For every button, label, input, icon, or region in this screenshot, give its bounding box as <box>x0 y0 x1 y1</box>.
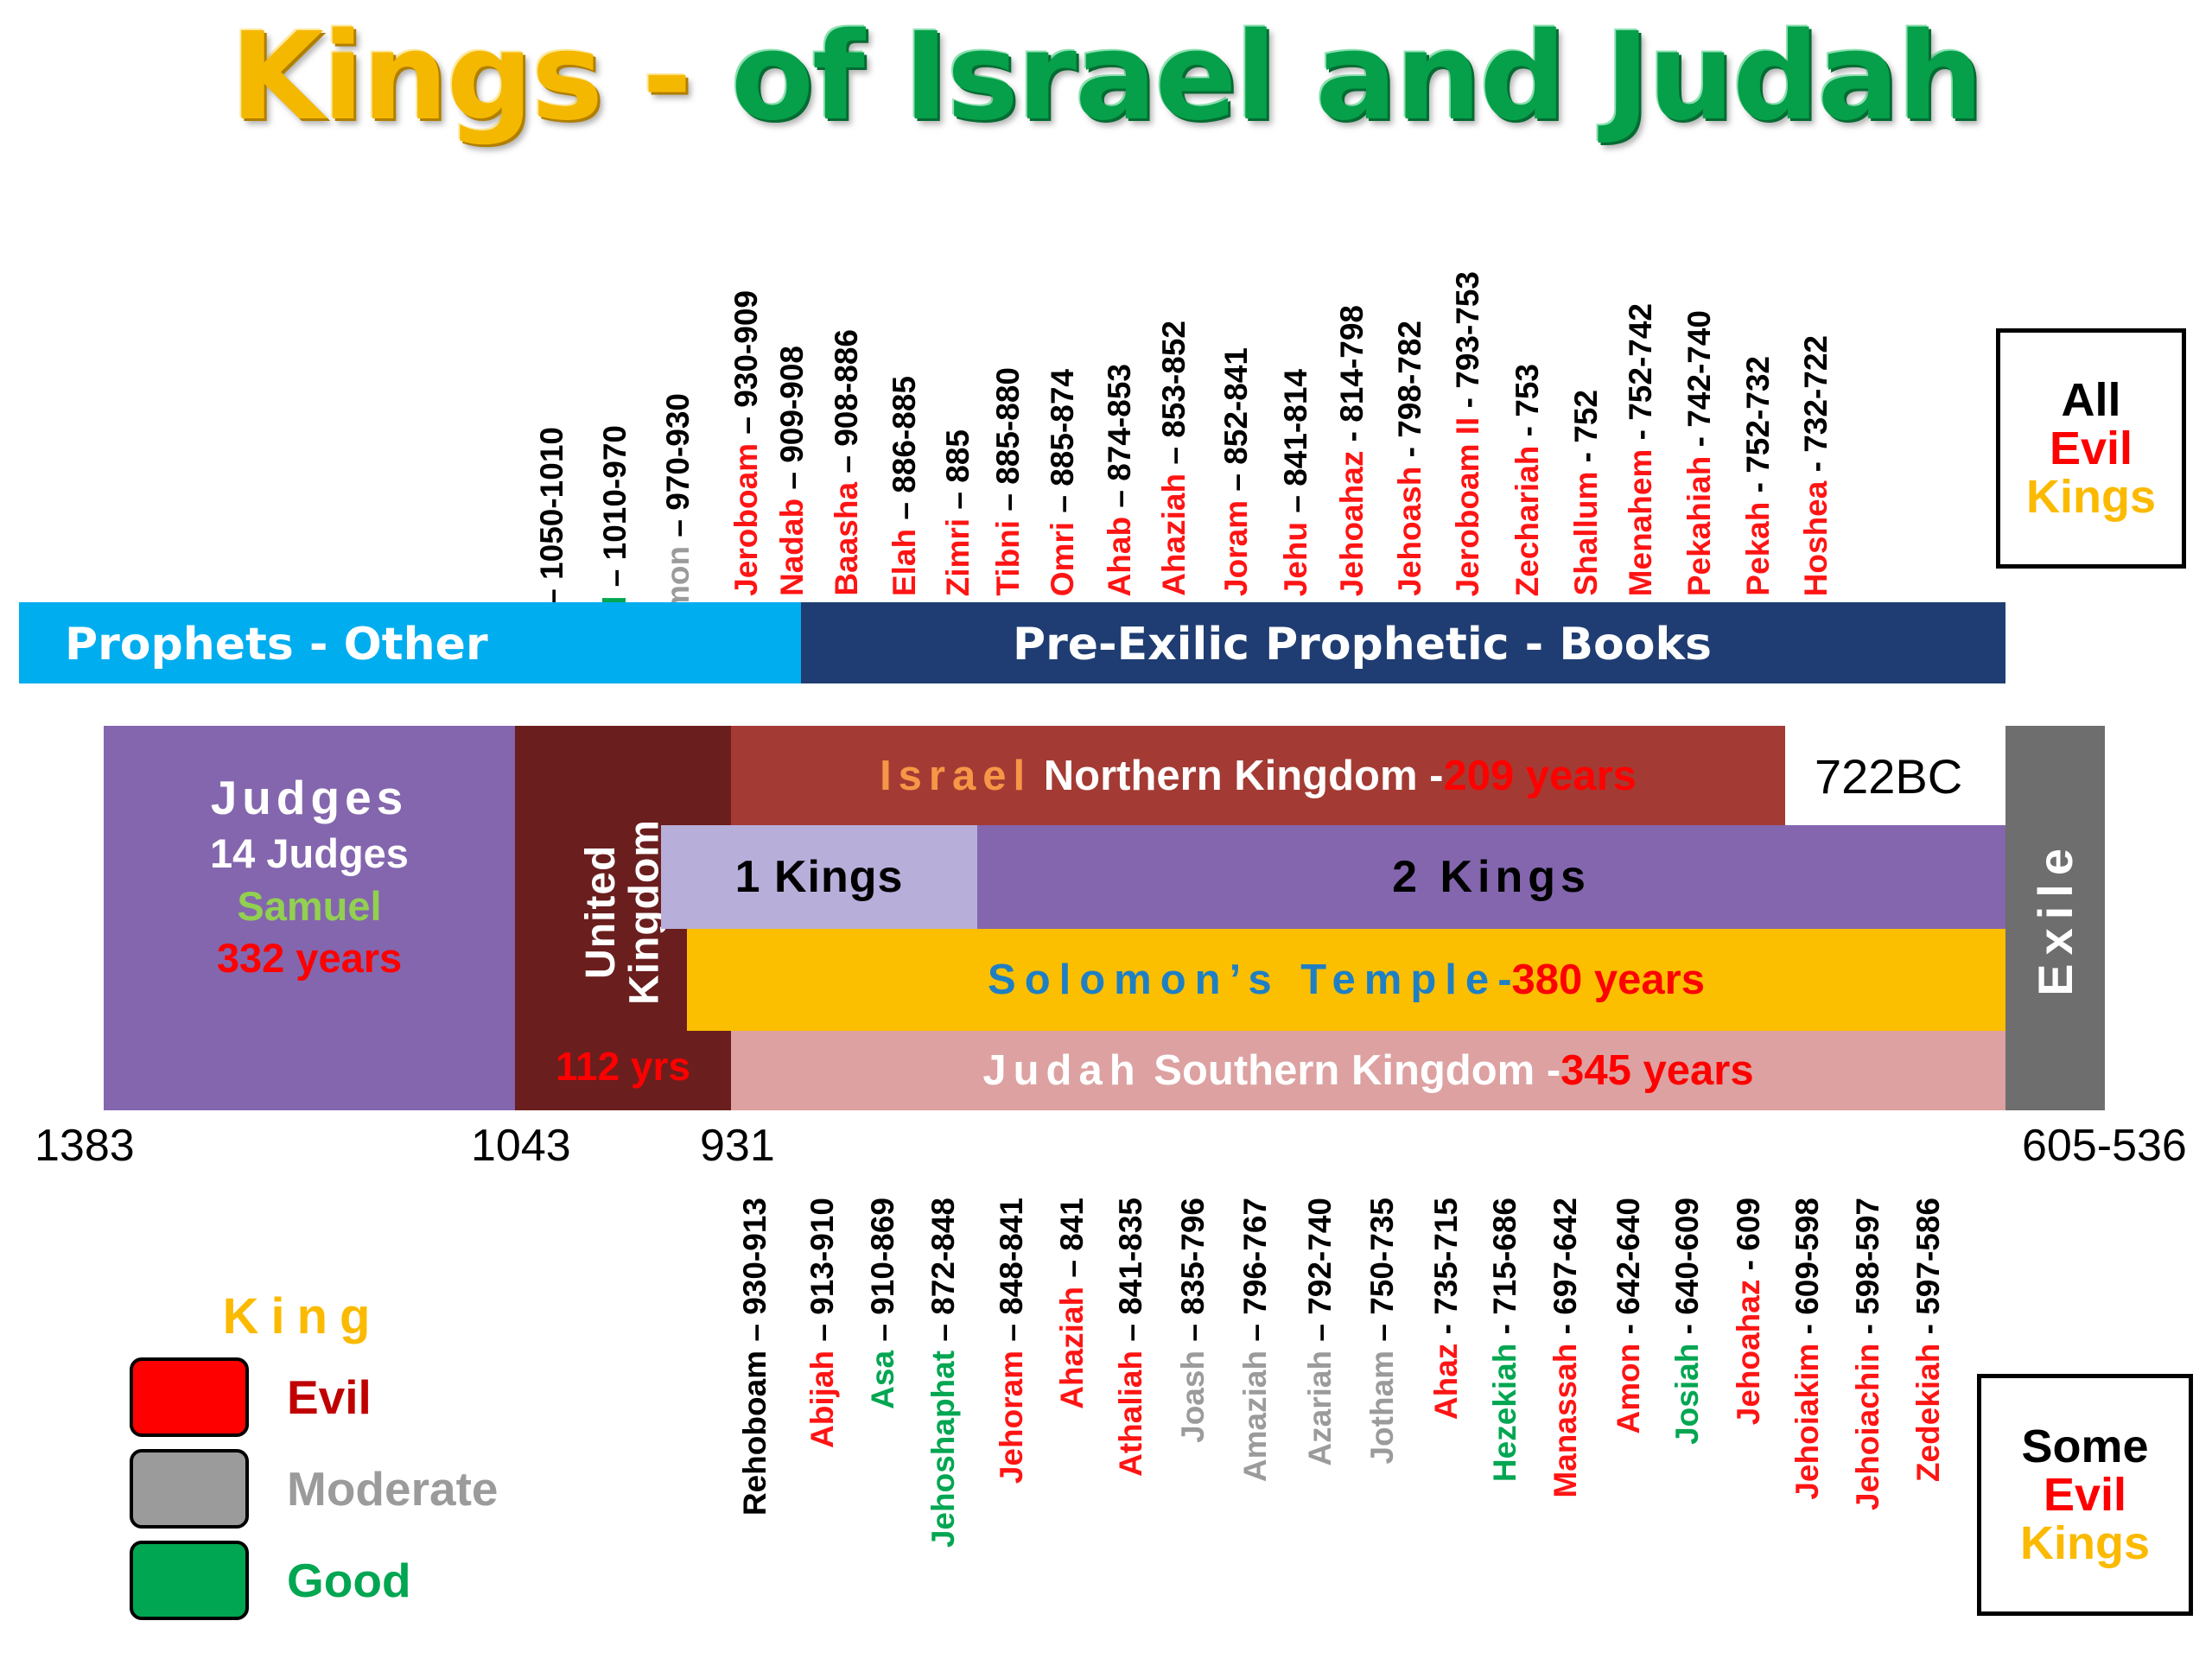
king-label-jeroboam: Jeroboam – 930-909 <box>730 290 762 596</box>
king-name: Tibni <box>990 520 1026 596</box>
king-name: Asa <box>865 1351 900 1409</box>
king-name: Jehoahaz <box>1334 450 1370 596</box>
king-reign-dates: - 752-732 <box>1740 356 1776 502</box>
king-label-baasha: Baasha – 908-886 <box>830 329 862 596</box>
king-label-jotham: Jotham – 750-735 <box>1366 1198 1398 1465</box>
legend-label-moderate: Moderate <box>287 1461 499 1516</box>
solomons-temple-bar: Solomon’s Temple - 380 years <box>687 929 2005 1031</box>
king-label-jehoiachin: Jehoiachin - 598-597 <box>1852 1198 1884 1510</box>
king-reign-dates: – 1010-970 <box>597 425 632 596</box>
king-name: Jeroboam <box>728 443 764 596</box>
king-name: Hezekiah <box>1487 1344 1522 1482</box>
judges-period-block: Judges 14 Judges Samuel 332 years <box>104 726 515 1110</box>
israel-northern-kingdom-bar: Israel Northern Kingdom - 209 years <box>731 726 1785 825</box>
israel-desc: Northern Kingdom - <box>1044 752 1444 800</box>
king-name: Shallum <box>1568 472 1604 596</box>
note-all-line3: Kings <box>2026 473 2156 521</box>
legend-label-good: Good <box>287 1553 411 1608</box>
some-evil-kings-note: Some Evil Kings <box>1977 1374 2193 1616</box>
king-label-hoshea: Hoshea - 732-722 <box>1800 335 1832 596</box>
prophets-other-label: Prophets - Other <box>65 619 488 671</box>
king-label-ahaziah: Ahaziah – 841 <box>1056 1198 1088 1409</box>
king-name: Ahaziah <box>1156 474 1192 596</box>
legend-swatch-good <box>130 1541 249 1620</box>
king-reign-dates: – 841-814 <box>1278 369 1313 522</box>
temple-row-text: Solomon’s Temple - 380 years <box>687 929 2005 1031</box>
king-name: Menahem <box>1623 448 1658 596</box>
king-reign-dates: - 732-722 <box>1798 335 1834 481</box>
king-reign-dates: – 852-841 <box>1218 347 1254 500</box>
king-label-jehoshaphat: Jehoshaphat – 872-848 <box>927 1198 959 1548</box>
king-label-nadab: Nadab – 909-908 <box>776 346 808 596</box>
king-reign-dates: - 697-642 <box>1548 1198 1583 1344</box>
judges-years: 332 years <box>104 932 515 984</box>
king-reign-dates: - 753 <box>1510 364 1545 446</box>
date-tick-1043: 1043 <box>471 1120 571 1172</box>
king-label-jehoiakim: Jehoiakim - 609-598 <box>1791 1198 1823 1500</box>
king-reign-dates: – 885 <box>940 429 976 518</box>
legend-title: King <box>130 1287 475 1345</box>
legend-rows: EvilModerateGood <box>130 1357 613 1620</box>
king-label-elah: Elah – 886-885 <box>888 376 920 596</box>
king-label-azariah: Azariah – 792-740 <box>1304 1198 1336 1466</box>
king-label-jehoash: Jehoash - 798-782 <box>1394 321 1426 596</box>
king-reign-dates: - 793-753 <box>1450 271 1485 417</box>
judah-desc: Southern Kingdom - <box>1154 1046 1560 1095</box>
note-all-line1: All <box>2061 376 2120 424</box>
king-label-amon: Amon - 642-640 <box>1612 1198 1644 1434</box>
king-reign-dates: - 752-742 <box>1623 303 1658 449</box>
king-label-ahaziah: Ahaziah – 853-852 <box>1158 321 1190 596</box>
king-reign-dates: – 970-930 <box>660 393 696 546</box>
king-label-jehoahaz: Jehoahaz - 814-798 <box>1336 305 1368 596</box>
king-reign-dates: – 841 <box>1054 1198 1090 1287</box>
king-label-tibni: Tibni – 885-880 <box>992 367 1024 596</box>
king-label-pekahiah: Pekahiah - 742-740 <box>1683 310 1715 596</box>
king-name: Jehoiachin <box>1850 1344 1885 1510</box>
note-some-line2: Evil <box>2044 1471 2126 1519</box>
king-name: Joram <box>1218 500 1254 596</box>
king-label-amaziah: Amaziah – 796-767 <box>1239 1198 1271 1482</box>
king-name: Jehoahaz <box>1731 1280 1766 1426</box>
exile-label: Exile <box>2005 726 2105 1110</box>
king-reign-dates: - 597-586 <box>1910 1198 1946 1344</box>
israel-name: Israel <box>880 752 1032 800</box>
king-label-josiah: Josiah - 640-609 <box>1671 1198 1703 1445</box>
fall-of-israel-date: 722BC <box>1815 748 1962 804</box>
king-name: Pekah <box>1740 502 1776 596</box>
king-name: Josiah <box>1669 1344 1705 1445</box>
king-label-manassah: Manassah - 697-642 <box>1549 1198 1581 1498</box>
temple-years: 380 years <box>1512 956 1705 1004</box>
king-label-abijah: Abijah – 913-910 <box>806 1198 838 1448</box>
king-reign-dates: – 796-767 <box>1237 1198 1273 1351</box>
king-reign-dates: – 792-740 <box>1302 1198 1338 1351</box>
king-name: Jehoiakim <box>1789 1344 1825 1500</box>
king-reign-dates: – 930-913 <box>737 1198 772 1351</box>
king-reign-dates: - 715-686 <box>1487 1198 1522 1344</box>
king-reign-dates: - 814-798 <box>1334 305 1370 451</box>
king-name: Ahab <box>1102 517 1137 597</box>
king-label-athaliah: Athaliah – 841-835 <box>1115 1198 1147 1477</box>
temple-name: Solomon’s Temple <box>988 956 1497 1004</box>
king-name: Hoshea <box>1798 480 1834 596</box>
king-name: Zechariah <box>1510 445 1545 596</box>
title-part-of-israel-and-judah: of Israel and Judah <box>731 7 1982 148</box>
king-reign-dates: - 642-640 <box>1611 1198 1646 1344</box>
judges-count: 14 Judges <box>104 828 515 880</box>
king-rating-legend: King EvilModerateGood <box>130 1287 613 1620</box>
king-reign-dates: - 640-609 <box>1669 1198 1705 1344</box>
king-reign-dates: – 1050-1010 <box>534 427 569 615</box>
king-reign-dates: – 909-908 <box>774 346 810 499</box>
king-label-zedekiah: Zedekiah - 597-586 <box>1912 1198 1944 1482</box>
king-name: Jehoash <box>1392 467 1427 596</box>
pre-exilic-label: Pre-Exilic Prophetic - Books <box>1013 619 1712 671</box>
king-label-ahaz: Ahaz - 735-715 <box>1430 1198 1462 1420</box>
king-name: Azariah <box>1302 1351 1338 1466</box>
king-name: Amon <box>1611 1344 1646 1434</box>
note-some-line1: Some <box>2021 1422 2148 1471</box>
king-name: Zimri <box>940 518 976 596</box>
king-label-menahem: Menahem - 752-742 <box>1624 303 1656 596</box>
king-name: Baasha <box>829 482 864 596</box>
judges-title: Judges <box>104 767 515 828</box>
king-label-omri: Omri – 885-874 <box>1046 369 1078 596</box>
legend-swatch-evil <box>130 1357 249 1437</box>
judah-southern-kingdom-bar: Judah Southern Kingdom - 345 years <box>731 1031 2005 1110</box>
king-name: Athaliah <box>1113 1351 1148 1477</box>
king-name: Manassah <box>1548 1344 1583 1498</box>
exile-label-text: Exile <box>2027 840 2083 996</box>
king-reign-dates: – 930-909 <box>728 290 764 443</box>
king-label-pekah: Pekah - 752-732 <box>1742 356 1774 596</box>
king-label-rehoboam: Rehoboam – 930-913 <box>739 1198 771 1516</box>
king-reign-dates: – 848-841 <box>994 1198 1029 1351</box>
king-name: Joash <box>1175 1351 1211 1443</box>
king-reign-dates: - 742-740 <box>1681 310 1717 456</box>
king-label-asa: Asa – 910-869 <box>867 1198 899 1409</box>
king-reign-dates: – 872-848 <box>925 1198 961 1351</box>
king-label-zimri: Zimri – 885 <box>942 429 974 596</box>
king-name: Jotham <box>1364 1351 1400 1465</box>
king-reign-dates: – 853-852 <box>1156 321 1192 474</box>
king-reign-dates: - 735-715 <box>1428 1198 1464 1344</box>
king-label-hezekiah: Hezekiah - 715-686 <box>1489 1198 1521 1482</box>
date-tick-605-536: 605-536 <box>2022 1120 2187 1172</box>
legend-label-evil: Evil <box>287 1370 372 1425</box>
king-name: Jehoshaphat <box>925 1351 961 1548</box>
date-tick-931: 931 <box>700 1120 775 1172</box>
king-label-joash: Joash – 835-796 <box>1177 1198 1209 1443</box>
legend-swatch-moderate <box>130 1449 249 1529</box>
book-1-kings-label: 1 Kings <box>661 825 977 929</box>
king-label-joram: Joram – 852-841 <box>1220 347 1252 596</box>
king-label-jehoram: Jehoram – 848-841 <box>995 1198 1027 1484</box>
king-reign-dates: – 835-796 <box>1175 1198 1211 1351</box>
legend-row-evil: Evil <box>130 1357 613 1437</box>
legend-row-good: Good <box>130 1541 613 1620</box>
united-kingdom-years: 112 yrs <box>515 1043 731 1090</box>
judah-years: 345 years <box>1560 1046 1753 1095</box>
israel-years: 209 years <box>1443 752 1636 800</box>
judah-row-text: Judah Southern Kingdom - 345 years <box>731 1031 2005 1110</box>
king-name: Jeroboam II <box>1450 416 1485 596</box>
king-reign-dates: – 841-835 <box>1113 1198 1148 1351</box>
title-part-kings: Kings - <box>231 7 731 148</box>
king-name: Rehoboam <box>737 1351 772 1516</box>
king-reign-dates: – 913-910 <box>804 1198 840 1351</box>
king-reign-dates: - 798-782 <box>1392 321 1427 467</box>
book-2-kings-label: 2 Kings <box>977 825 2005 929</box>
king-name: Ahaz <box>1428 1344 1464 1420</box>
page-title: Kings - of Israel and Judah <box>0 7 2212 148</box>
temple-separator: - <box>1497 956 1511 1004</box>
king-name: Pekahiah <box>1681 456 1717 596</box>
king-name: Jehu <box>1278 522 1313 596</box>
king-reign-dates: – 886-885 <box>887 376 922 529</box>
king-label-jeroboam-ii: Jeroboam II - 793-753 <box>1452 271 1484 596</box>
judges-samuel: Samuel <box>104 880 515 932</box>
note-all-line2: Evil <box>2050 424 2133 473</box>
king-reign-dates: – 885-880 <box>990 367 1026 520</box>
king-name: Omri <box>1045 522 1080 596</box>
king-name: Nadab <box>774 499 810 596</box>
book-1-kings-bar: 1 Kings <box>661 825 977 929</box>
king-label-zechariah: Zechariah - 753 <box>1511 364 1543 596</box>
legend-row-moderate: Moderate <box>130 1449 613 1529</box>
book-2-kings-bar: 2 Kings <box>977 825 2005 929</box>
date-tick-1383: 1383 <box>35 1120 135 1172</box>
king-label-jehu: Jehu – 841-814 <box>1280 369 1312 596</box>
king-label-ahab: Ahab – 874-853 <box>1103 364 1135 596</box>
king-reign-dates: - 598-597 <box>1850 1198 1885 1344</box>
israel-row-text: Israel Northern Kingdom - 209 years <box>731 726 1785 825</box>
king-name: Elah <box>887 529 922 596</box>
all-evil-kings-note: All Evil Kings <box>1996 328 2186 569</box>
united-kingdom-line1: United <box>578 844 624 978</box>
king-reign-dates: – 750-735 <box>1364 1198 1400 1351</box>
king-reign-dates: - 752 <box>1568 390 1604 472</box>
king-reign-dates: – 874-853 <box>1102 364 1137 517</box>
king-name: Abijah <box>804 1351 840 1448</box>
king-label-shallum: Shallum - 752 <box>1570 390 1602 596</box>
king-reign-dates: - 609 <box>1731 1198 1766 1280</box>
king-reign-dates: – 910-869 <box>865 1198 900 1351</box>
king-name: Amaziah <box>1237 1351 1273 1482</box>
king-reign-dates: – 885-874 <box>1045 369 1080 522</box>
judah-name: Judah <box>982 1046 1141 1095</box>
king-label-jehoahaz: Jehoahaz - 609 <box>1732 1198 1764 1425</box>
king-reign-dates: – 908-886 <box>829 329 864 482</box>
note-some-line3: Kings <box>2020 1519 2150 1567</box>
king-name: Jehoram <box>994 1351 1029 1484</box>
king-reign-dates: - 609-598 <box>1789 1198 1825 1344</box>
king-name: Zedekiah <box>1910 1344 1946 1482</box>
king-name: Ahaziah <box>1054 1287 1090 1409</box>
